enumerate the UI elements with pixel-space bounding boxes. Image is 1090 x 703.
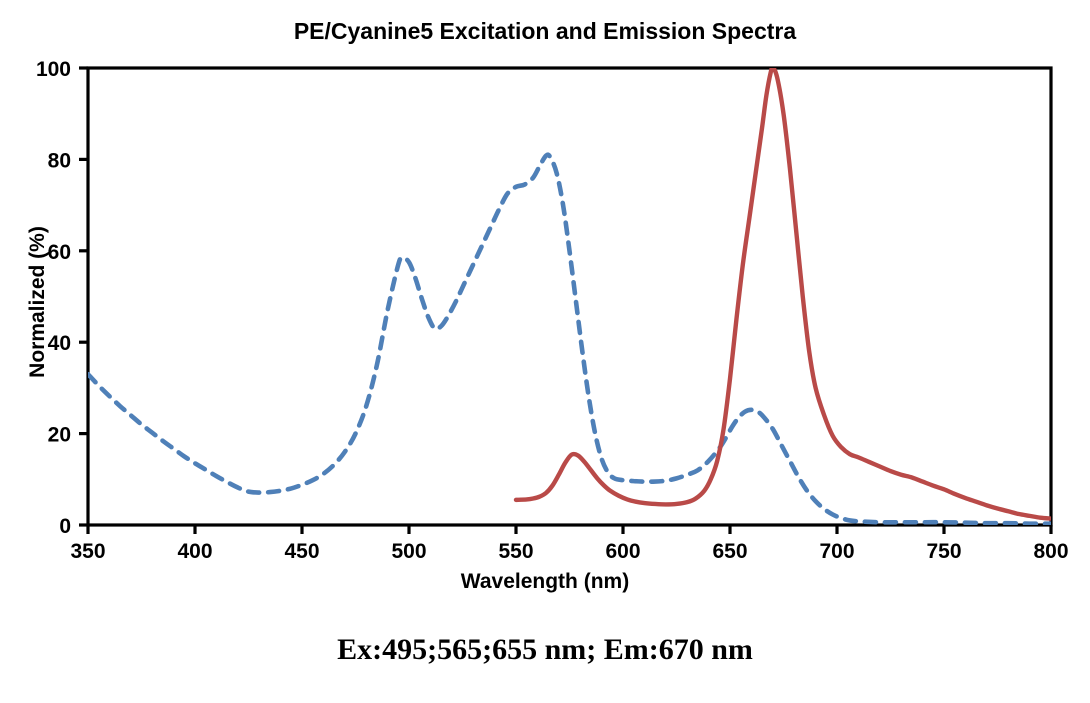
y-tick-label: 100 xyxy=(36,58,71,81)
x-tick-label: 750 xyxy=(926,540,961,563)
x-tick-label: 650 xyxy=(712,540,747,563)
x-axis-label: Wavelength (nm) xyxy=(0,570,1090,594)
x-tick-label: 550 xyxy=(498,540,533,563)
spectra-figure: PE/Cyanine5 Excitation and Emission Spec… xyxy=(0,0,1090,703)
chart-caption: Ex:495;565;655 nm; Em:670 nm xyxy=(0,633,1090,667)
y-tick-label: 60 xyxy=(48,241,71,264)
x-tick-label: 700 xyxy=(819,540,854,563)
x-tick-label: 350 xyxy=(70,540,105,563)
series-line-excitation xyxy=(88,155,1051,524)
x-tick-label: 450 xyxy=(284,540,319,563)
x-tick-label: 500 xyxy=(391,540,426,563)
x-tick-label: 600 xyxy=(605,540,640,563)
x-tick-label: 800 xyxy=(1033,540,1068,563)
y-tick-label: 80 xyxy=(48,149,71,172)
x-tick-label: 400 xyxy=(177,540,212,563)
y-tick-label: 40 xyxy=(48,332,71,355)
spectra-plot: 3504004505005506006507007508000204060801… xyxy=(0,0,1090,703)
y-tick-label: 20 xyxy=(48,424,71,447)
y-tick-label: 0 xyxy=(59,515,71,538)
